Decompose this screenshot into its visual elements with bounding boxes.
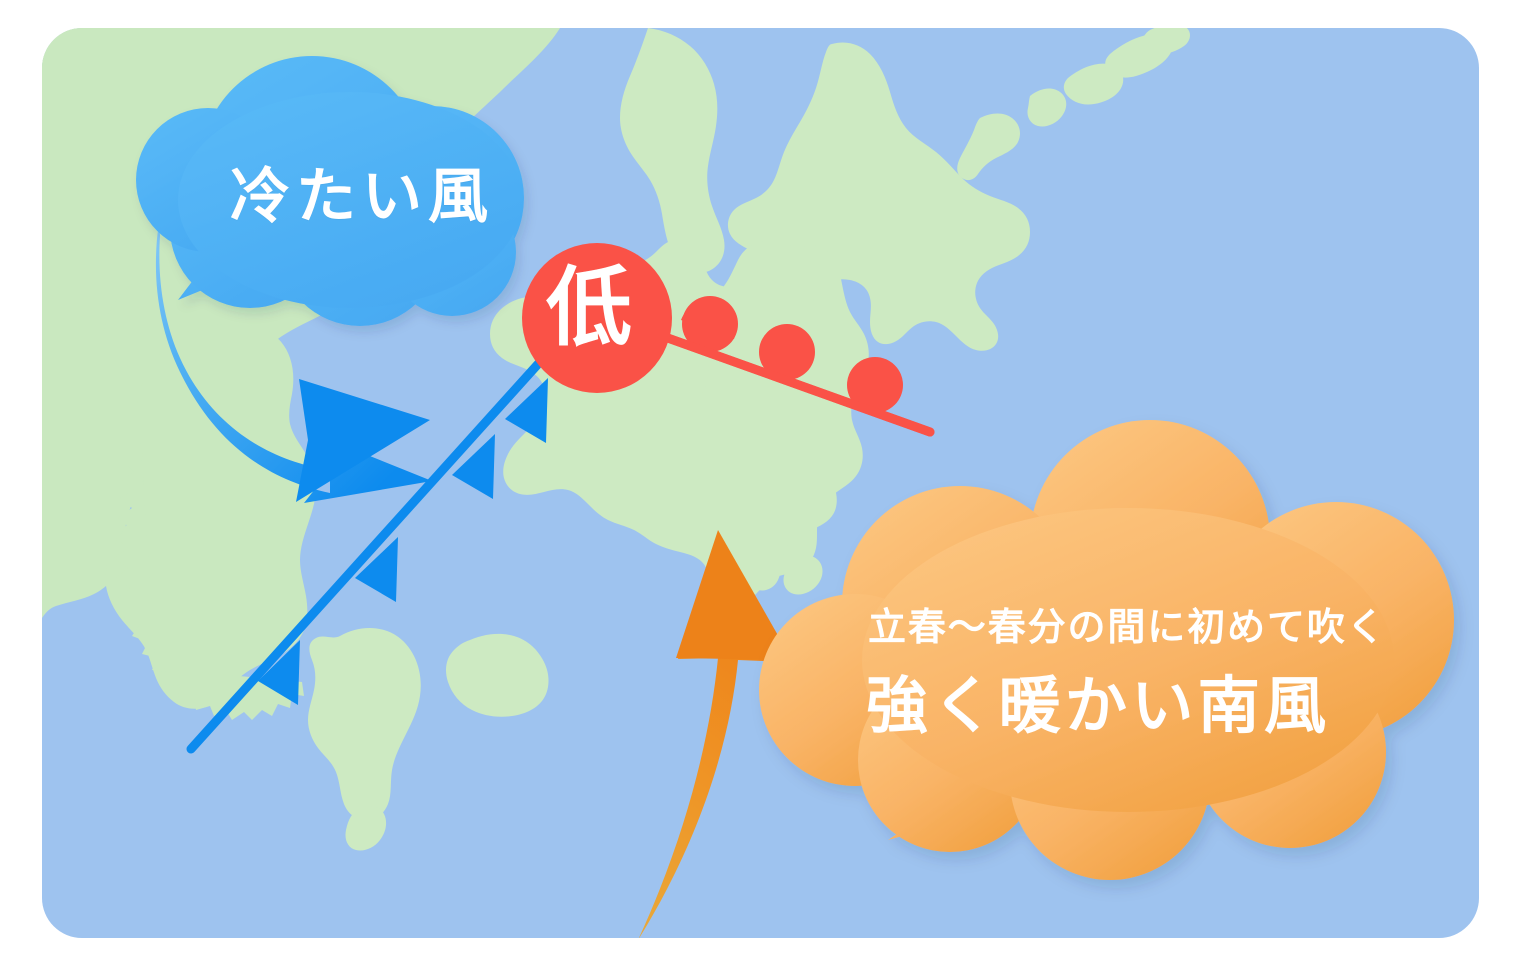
- low-pressure-circle: [522, 243, 672, 393]
- weather-map-canvas: [0, 0, 1520, 965]
- weather-map-illustration: 冷たい風 低 立春〜春分の間に初めて吹く 強く暖かい南風: [0, 0, 1520, 965]
- cold-bubble-core: [178, 92, 522, 308]
- warm-bubble-core: [862, 508, 1394, 812]
